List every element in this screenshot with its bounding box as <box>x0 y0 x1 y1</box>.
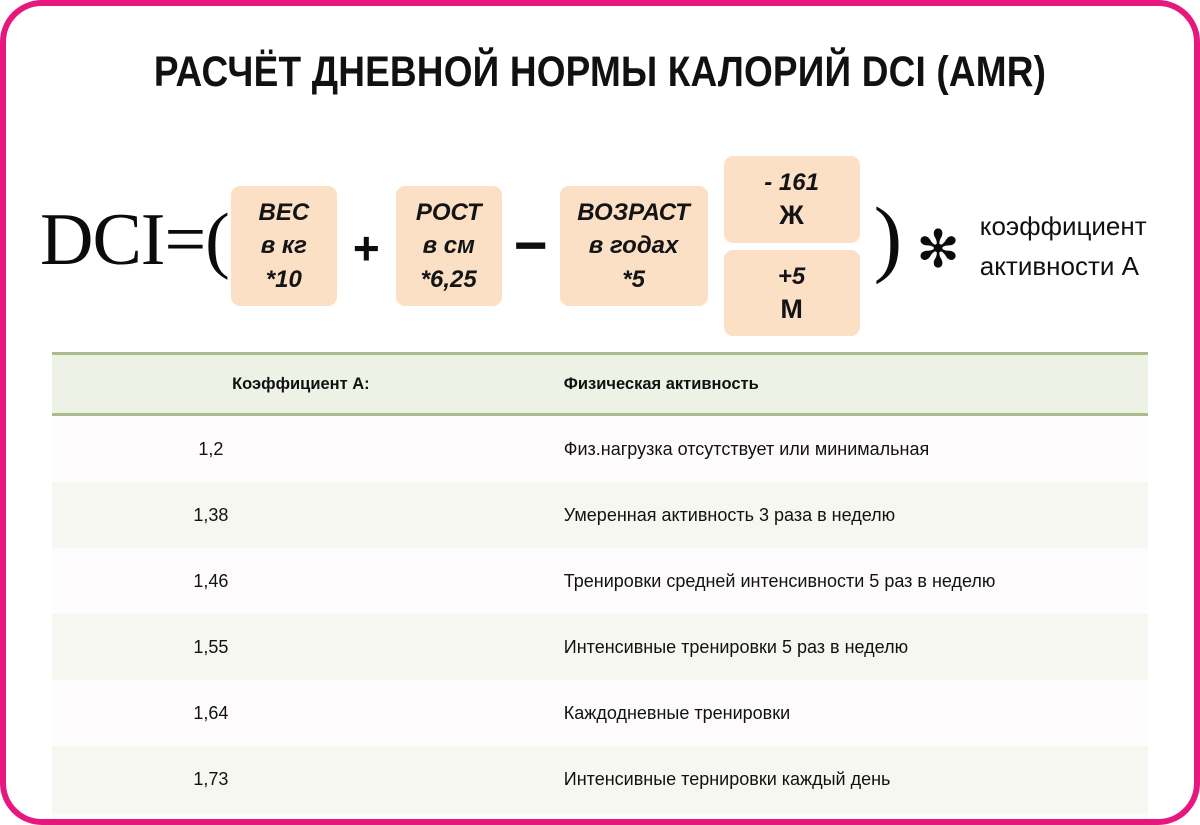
table-row: 1,64 Каждодневные тренировки <box>52 680 1148 746</box>
table-row: 1,73 Интенсивные тернировки каждый день <box>52 746 1148 812</box>
activity-table-wrapper: Коэффициент А: Физическая активность 1,2… <box>52 352 1148 825</box>
table-row: 1,9 Ежедневная физ.нагрузка+физическая р… <box>52 813 1148 825</box>
male-constant: +5 <box>738 260 846 293</box>
age-label: ВОЗРАСТ <box>574 196 694 229</box>
activity-coefficient-table: Коэффициент А: Физическая активность 1,2… <box>52 352 1148 825</box>
row-coefficient: 1,46 <box>52 548 550 614</box>
table-body: 1,2 Физ.нагрузка отсутствует или минимал… <box>52 415 1148 825</box>
row-coefficient: 1,55 <box>52 614 550 680</box>
formula-term-height: РОСТ в см *6,25 <box>396 186 502 305</box>
dci-formula: DCI=( ВЕС в кг *10 + РОСТ в см *6,25 − В… <box>40 146 1180 346</box>
row-description: Умеренная активность 3 раза в неделю <box>550 482 1148 548</box>
row-coefficient: 1,2 <box>52 415 550 483</box>
formula-lead-dci-open-paren: DCI=( <box>40 203 229 277</box>
weight-multiplier: *10 <box>245 263 323 296</box>
height-unit: в см <box>410 229 488 262</box>
poster-card: РАСЧЁТ ДНЕВНОЙ НОРМЫ КАЛОРИЙ DCI (AMR) D… <box>0 0 1200 825</box>
weight-label: ВЕС <box>245 196 323 229</box>
formula-term-age: ВОЗРАСТ в годах *5 <box>560 186 708 305</box>
formula-term-female: - 161 Ж <box>724 156 860 243</box>
gender-constant-stack: - 161 Ж +5 М <box>724 156 860 337</box>
minus-operator: − <box>502 217 560 275</box>
table-header-row: Коэффициент А: Физическая активность <box>52 354 1148 415</box>
activity-label-line2: активности А <box>980 246 1147 286</box>
height-label: РОСТ <box>410 196 488 229</box>
formula-term-weight: ВЕС в кг *10 <box>231 186 337 305</box>
activity-coefficient-label: коэффициент активности А <box>980 206 1147 287</box>
row-description: Тренировки средней интенсивности 5 раз в… <box>550 548 1148 614</box>
page-title: РАСЧЁТ ДНЕВНОЙ НОРМЫ КАЛОРИЙ DCI (AMR) <box>89 48 1111 97</box>
table-row: 1,38 Умеренная активность 3 раза в недел… <box>52 482 1148 548</box>
table-row: 1,55 Интенсивные тренировки 5 раз в неде… <box>52 614 1148 680</box>
female-glyph: Ж <box>738 199 846 233</box>
row-description: Физ.нагрузка отсутствует или минимальная <box>550 415 1148 483</box>
row-coefficient: 1,64 <box>52 680 550 746</box>
closing-paren: ) <box>874 199 903 276</box>
table-head: Коэффициент А: Физическая активность <box>52 354 1148 415</box>
row-coefficient: 1,73 <box>52 746 550 812</box>
row-coefficient: 1,38 <box>52 482 550 548</box>
weight-unit: в кг <box>245 229 323 262</box>
plus-operator: + <box>337 225 396 271</box>
formula-term-male: +5 М <box>724 250 860 337</box>
activity-label-line1: коэффициент <box>980 206 1147 246</box>
asterisk-icon: ✻ <box>914 232 964 268</box>
male-glyph: М <box>738 293 846 327</box>
age-multiplier: *5 <box>574 263 694 296</box>
female-constant: - 161 <box>738 166 846 199</box>
row-coefficient: 1,9 <box>52 813 550 825</box>
height-multiplier: *6,25 <box>410 263 488 296</box>
table-header-coefficient: Коэффициент А: <box>52 354 550 415</box>
row-description: Интенсивные тернировки каждый день <box>550 746 1148 812</box>
table-row: 1,46 Тренировки средней интенсивности 5 … <box>52 548 1148 614</box>
table-header-activity: Физическая активность <box>550 354 1148 415</box>
table-row: 1,2 Физ.нагрузка отсутствует или минимал… <box>52 415 1148 483</box>
row-description: Интенсивные тренировки 5 раз в неделю <box>550 614 1148 680</box>
age-unit: в годах <box>574 229 694 262</box>
row-description: Каждодневные тренировки <box>550 680 1148 746</box>
row-description: Ежедневная физ.нагрузка+физическая работ… <box>550 813 1148 825</box>
